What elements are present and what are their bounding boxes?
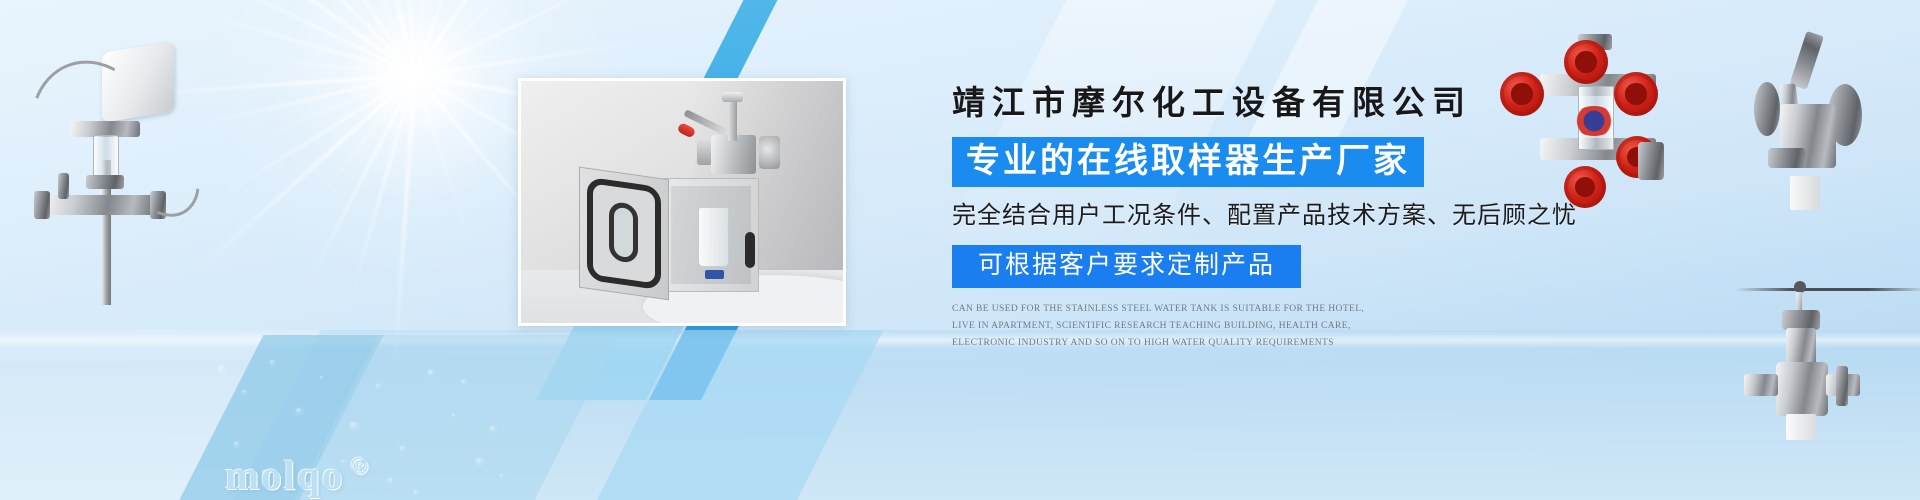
- photo-background: [521, 81, 843, 323]
- sun-ray: [350, 75, 416, 297]
- sun-ray: [414, 75, 472, 247]
- sun-ray: [171, 0, 416, 77]
- english-description: CAN BE USED FOR THE STAINLESS STEEL WATE…: [952, 301, 1372, 351]
- left-equipment-image: [10, 25, 190, 305]
- water-droplet: [242, 390, 246, 394]
- lever-handle: [1789, 31, 1823, 90]
- water-droplet: [500, 474, 503, 477]
- left-flange: [34, 191, 50, 219]
- sun-ray: [341, 0, 416, 75]
- product-photo: [518, 78, 846, 326]
- promo-banner: molqo®: [0, 0, 1920, 500]
- flange-left: [1754, 82, 1780, 136]
- sun-ray: [208, 0, 416, 76]
- watermark-text: molqo: [225, 452, 344, 498]
- sun-ray: [193, 10, 415, 76]
- lower-valve-image: [1758, 262, 1920, 452]
- water-droplet: [320, 376, 323, 379]
- water-droplet: [452, 414, 455, 417]
- water-droplet: [490, 426, 496, 432]
- sun-ray: [191, 74, 417, 278]
- valve-stem: [728, 96, 737, 141]
- cabinet-door: [579, 167, 669, 301]
- bonnet: [1786, 328, 1816, 366]
- lever-valve-image: [1742, 22, 1920, 217]
- custom-product-pill: 可根据客户要求定制产品: [952, 245, 1301, 288]
- sun-ray: [285, 0, 416, 76]
- water-droplet: [462, 380, 466, 384]
- sample-outlet: [1638, 142, 1664, 180]
- headline-badge: 专业的在线取样器生产厂家: [952, 137, 1424, 187]
- sun-ray: [191, 74, 416, 129]
- sample-bottle: [698, 207, 729, 267]
- sun-ray: [414, 0, 549, 76]
- sun-ray: [303, 74, 415, 217]
- cabinet-side-handle: [745, 232, 755, 268]
- inlet-pipe: [1744, 374, 1778, 396]
- water-droplet: [476, 458, 483, 465]
- door-window: [609, 201, 638, 265]
- door-gasket: [587, 177, 661, 290]
- water-droplet: [388, 478, 393, 483]
- sun-ray: [309, 74, 416, 280]
- lower-valve-body: [1776, 362, 1828, 416]
- water-droplet: [218, 366, 225, 373]
- water-droplet: [428, 370, 434, 376]
- valve-flange-left: [697, 139, 713, 165]
- valve-flange-right: [759, 136, 780, 169]
- sun-ray: [236, 55, 415, 76]
- handle-bar: [1736, 288, 1920, 291]
- water-droplet: [400, 446, 405, 451]
- company-name: 靖江市摩尔化工设备有限公司: [952, 84, 1592, 125]
- registered-mark-icon: ®: [350, 454, 370, 480]
- valve-lever-grip: [676, 122, 696, 139]
- sun-ray: [414, 0, 435, 75]
- sub-headline: 完全结合用户工况条件、配置产品技术方案、无后顾之忧: [952, 201, 1592, 231]
- sun-ray: [340, 0, 416, 75]
- sun-ray: [413, 0, 584, 76]
- sun-ray: [397, 0, 416, 75]
- water-droplet: [376, 384, 380, 388]
- water-droplet: [414, 490, 418, 494]
- valve-cap: [722, 92, 743, 102]
- sun-ray: [254, 0, 416, 76]
- banner-text-block: 靖江市摩尔化工设备有限公司 专业的在线取样器生产厂家 完全结合用户工况条件、配置…: [952, 84, 1592, 351]
- lower-flange-right: [1836, 366, 1848, 406]
- sun-ray: [415, 42, 643, 77]
- water-droplet: [350, 422, 358, 430]
- water-droplet: [296, 408, 302, 414]
- brand-watermark: molqo®: [225, 455, 370, 496]
- sun-ray: [414, 0, 622, 76]
- handwheel-top: [1564, 40, 1608, 84]
- outlet-nozzle: [1790, 176, 1820, 210]
- water-droplet: [234, 442, 239, 447]
- sun-ray: [219, 74, 416, 198]
- lower-outlet-nozzle: [1786, 414, 1816, 440]
- water-droplet: [270, 360, 275, 365]
- bottle-cap: [705, 270, 724, 280]
- sampling-valve: [698, 96, 769, 183]
- sun-ray: [248, 74, 416, 143]
- bonnet-nut: [1782, 310, 1820, 330]
- valve-side-port: [1768, 148, 1806, 168]
- sun-ray: [414, 0, 495, 76]
- handwheel-right: [1614, 72, 1658, 116]
